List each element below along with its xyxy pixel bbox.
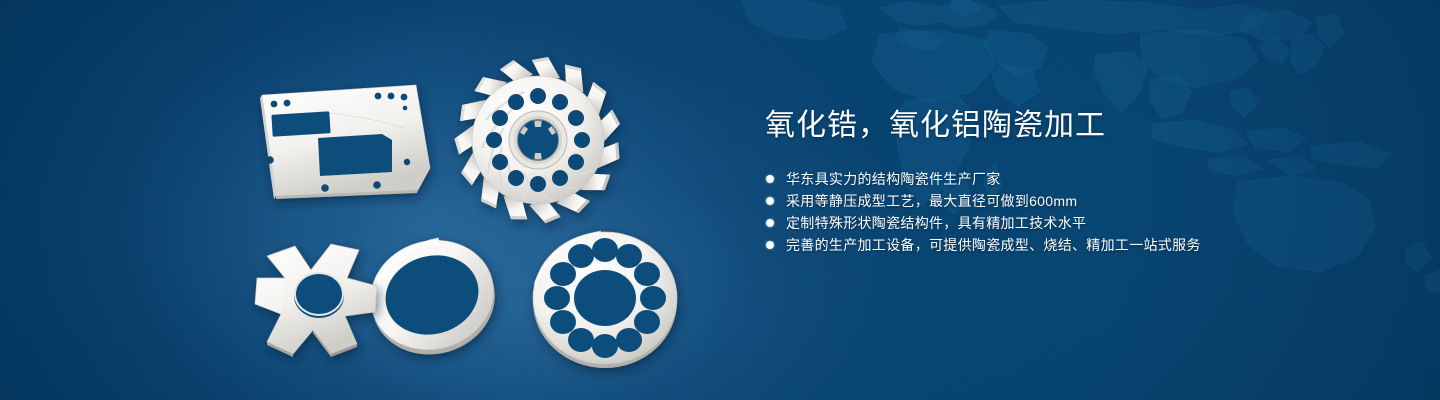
feature-list: 华东具实力的结构陶瓷件生产厂家 采用等静压成型工艺，最大直径可做到600mm 定… [765, 168, 1405, 256]
bullet-dot-icon [766, 219, 774, 227]
ceramic-ring [358, 226, 508, 369]
feature-item-3: 定制特殊形状陶瓷结构件，具有精加工技术水平 [765, 212, 1405, 234]
feature-item-4: 完善的生产加工设备，可提供陶瓷成型、烧结、精加工一站式服务 [765, 234, 1405, 256]
ceramic-perforated-disc [533, 232, 677, 368]
product-photo-group [0, 0, 760, 400]
ceramic-cross-plate [255, 244, 377, 357]
feature-item-4-label: 完善的生产加工设备，可提供陶瓷成型、烧结、精加工一站式服务 [786, 237, 1201, 253]
feature-item-1: 华东具实力的结构陶瓷件生产厂家 [765, 168, 1405, 190]
bullet-dot-icon [766, 241, 774, 249]
promotional-banner: 氧化锆，氧化铝陶瓷加工 华东具实力的结构陶瓷件生产厂家 采用等静压成型工艺，最大… [0, 0, 1440, 400]
banner-headline: 氧化锆，氧化铝陶瓷加工 [765, 106, 1405, 146]
ceramic-bladed-impeller [453, 55, 624, 226]
banner-text-block: 氧化锆，氧化铝陶瓷加工 华东具实力的结构陶瓷件生产厂家 采用等静压成型工艺，最大… [765, 106, 1405, 256]
feature-item-2-label: 采用等静压成型工艺，最大直径可做到600mm [786, 193, 1077, 209]
bullet-dot-icon [766, 197, 774, 205]
ceramic-machined-plate [260, 85, 430, 199]
feature-item-2: 采用等静压成型工艺，最大直径可做到600mm [765, 190, 1405, 212]
feature-item-3-label: 定制特殊形状陶瓷结构件，具有精加工技术水平 [786, 215, 1086, 231]
bullet-dot-icon [766, 175, 774, 183]
feature-item-1-label: 华东具实力的结构陶瓷件生产厂家 [786, 171, 1001, 187]
